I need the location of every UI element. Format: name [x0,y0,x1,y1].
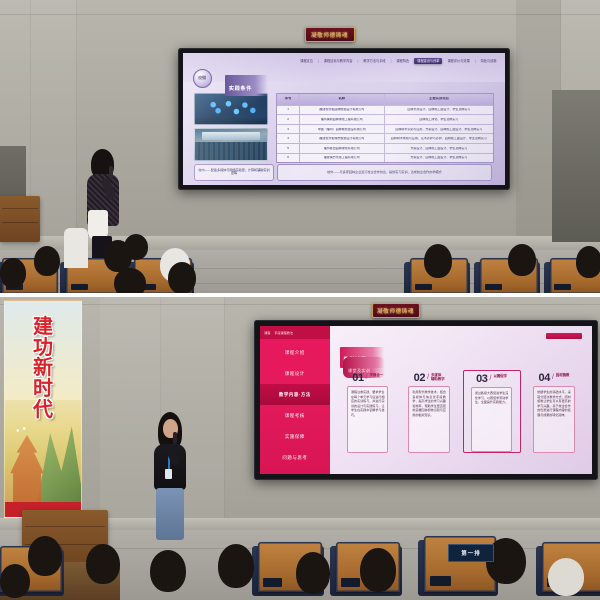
card-slash-icon: / [552,374,554,381]
table-row: 5 福州春田园林绿化有限公司 方案设计、园林施工图设计、学生顶岗实习 [277,144,493,154]
sidebar-item-course-design[interactable]: 课程设计 [260,363,330,384]
table-header-row: 序号 名称 主要实训项目 [277,94,493,106]
screen-content-top: 课程定位 | 课程目标与教学内容 | 教学方法与手段 | 课程特色 课程建设与改… [183,53,505,185]
audience-head [0,258,26,288]
nav-separator: | [318,60,319,63]
sidebar-header-0: 课程 [264,330,270,335]
nav-item-5[interactable]: 课程评价与效果 [445,59,471,64]
slide-corner-badge [546,333,583,340]
sidebar-header: 课程 手段课程教法 [260,326,330,339]
slide-sidebar: 课程 手段课程教法 课程介绍 课程设计 教学内容·方法 [260,326,330,474]
card-body-text: 依据学生的基础水平，采取分层次教学方式，因材施教让学生可以有更高的学习兴趣，基于… [537,390,571,417]
podium-line [2,222,39,223]
audience-head [360,548,396,592]
cell-name: 中国（福州）园林规划建设有限公司 [300,125,385,134]
card-label-line: 学做合一 [370,374,384,378]
presenter-jeans [156,488,184,540]
first-row-plaque-text: 第一排 [461,549,481,557]
sidebar-item-label: 课程介绍 [285,350,305,356]
cell-no: 6 [277,154,299,163]
nav-item-0[interactable]: 课程定位 [298,59,315,64]
cell-name: 福建省景和城市规划设计有限公司 [300,134,385,143]
table-header-cell: 序号 [277,94,299,105]
th-name: 名称 [338,97,345,100]
audience-head [296,552,330,594]
audience-head [424,244,452,278]
projection-screen-bottom: 课程 手段课程教法 课程介绍 课程设计 教学内容·方法 [254,320,598,480]
sidebar-menu: 课程介绍 课程设计 教学内容·方法 课程考核 [260,342,330,468]
cell-no: 2 [277,115,299,124]
podium-line [2,208,39,209]
slide-title-block: 实践条件 [225,75,268,96]
presenter-bottom-body [148,414,194,540]
projection-screen-top: 课程定位 | 课程目标与教学内容 | 教学方法与手段 | 课程特色 课程建设与改… [178,48,510,190]
card-number: 03 [476,374,487,385]
cell-projects: 园林树木繁殖与应用、花木养护与养护、园林施工图设计、学生顶岗实习 [385,134,493,143]
presenter-badge-icon [165,469,172,479]
audience-head [218,544,254,588]
sidebar-item-support[interactable]: 实施保障 [260,426,330,447]
screen-content-bottom: 课程 手段课程教法 课程介绍 课程设计 教学内容·方法 [260,326,592,474]
sidebar-header-1: 手段课程教法 [274,330,293,335]
slide-photo-column [194,93,268,162]
audience-head [28,536,62,576]
rollup-crane-icon [13,420,30,442]
table-header-cell: 名称 [300,94,385,105]
photo-divider [0,293,600,297]
cell-projects: 园林景观设计、园林施工图设计、学生顶岗实习 [385,106,493,115]
cell-name: 福建闽方景观工程有限公司 [300,154,385,163]
audience-head [34,246,60,276]
wall-seam [0,14,600,15]
method-card-04: 04 / 因材施教 依据学生的基础水平，采取分层次教学方式，因材施教让学生可以有… [526,370,582,453]
sidebar-item-label: 实施保障 [285,434,305,440]
microphone-icon [109,166,113,179]
th-no: 序号 [285,97,292,100]
slide-practice-conditions: 课程定位 | 课程目标与教学内容 | 教学方法与手段 | 课程特色 课程建设与改… [183,53,505,185]
school-emblem-label: 校徽 [198,75,206,81]
method-card-01: 01 / 学做合一 课程注重实践，要求学生在每个单元学习后进行相应的实训练习，并… [340,370,396,453]
rollup-banner: 建 功 新 时 代 [4,300,82,518]
sidebar-item-label: 课程设计 [285,371,305,377]
rollup-pagoda [10,431,45,504]
card-number: 04 [539,373,550,384]
teaching-method-cards: 01 / 学做合一 课程注重实践，要求学生在每个单元学习后进行相应的实训练习，并… [340,370,582,453]
cell-no: 3 [277,125,299,134]
microphone-icon [173,432,177,444]
rollup-banner-text: 建 功 新 时 代 [33,318,53,420]
table-row: 3 中国（福州）园林规划建设有限公司 园林树木识别与应用、方案设计、园林施工图设… [277,125,493,135]
sidebar-item-assessment[interactable]: 课程考核 [260,405,330,426]
card-label-line: 因材施教 [556,374,570,378]
audience-head [576,246,600,278]
card-slash-icon: / [427,374,429,381]
card-number: 01 [352,373,363,384]
sidebar-item-course-intro[interactable]: 课程介绍 [260,342,330,363]
audience-head [124,234,148,260]
wall-dark-panel-right [552,90,600,242]
slide-title: 实践条件 [229,86,252,92]
cell-no: 1 [277,106,299,115]
practice-partners-table: 序号 名称 主要实训项目 1 福建省景和园林规划设计有限公司 园林景观设计、园林… [276,93,494,164]
card-body-text: 利用现代教学技术，结合多媒体与信息化手段教学，提高学生的学习兴趣和效率，帮助学生… [412,390,446,417]
slide-photo-base [194,128,268,161]
audience-head [86,544,120,584]
card-body: 课程注重实践，要求学生在每个单元学习后进行相应的实训练习，并进行实训的设计与实践… [347,386,389,453]
nav-item-2[interactable]: 教学方法与手段 [361,59,387,64]
table-row: 6 福建闽方景观工程有限公司 方案设计、园林施工图设计、学生顶岗实习 [277,154,493,163]
slide-photo-lab [194,93,268,126]
first-row-plaque: 第一排 [448,544,494,562]
cell-name: 福建省景和园林规划设计有限公司 [300,106,385,115]
note-on-campus: 校内——配备多媒体与网络实验室、计算机辅助实训室等 [194,164,273,181]
table-header-cell: 主要实训项目 [385,94,493,105]
card-body: 依据学生的基础水平，采取分层次教学方式，因材施教让学生可以有更高的学习兴趣，基于… [533,386,575,453]
nav-separator: | [391,60,392,63]
cell-name: 福州春田园林绿化有限公司 [300,144,385,153]
card-label: 学做合一 [370,374,384,378]
card-body-text: 通过各级大赛促进学生深化学习，以赛促学带动学生，全面提升实践能力。 [475,391,509,405]
card-label: 因材施教 [556,374,570,378]
table-row: 2 福州闽新园林绿化工程有限公司 园林施工绿化、学生顶岗实习 [277,115,493,125]
nav-item-6[interactable]: 特色与创新 [479,59,499,64]
table-row: 4 福建省景和城市规划设计有限公司 园林树木繁殖与应用、花木养护与养护、园林施工… [277,134,493,144]
rollup-char-4: 代 [33,401,53,421]
hall-banner-top: 凝敬师德铸魂 [305,27,355,42]
rollup-char-2: 新 [33,359,53,379]
nav-separator: | [475,60,476,63]
rollup-mountains [37,418,82,504]
card-head: 04 / 因材施教 [539,373,570,384]
card-head: 02 / 多媒体 辅助教学 [414,373,445,384]
card-label-line: 辅助教学 [431,378,445,382]
cell-projects: 园林施工绿化、学生顶岗实习 [385,115,493,124]
school-emblem-icon: 校徽 [193,69,212,88]
method-card-03-highlighted: 03 / 以赛促学 通过各级大赛促进学生深化学习，以赛促学带动学生，全面提升实践… [463,370,521,453]
audience-head [114,268,146,295]
card-number: 02 [414,373,425,384]
nav-item-1[interactable]: 课程目标与教学内容 [322,59,355,64]
nav-item-4-active[interactable]: 课程建设与改革 [414,58,442,64]
rollup-char-3: 时 [33,380,53,400]
hall-banner-bottom: 凝敬师德铸魂 [372,303,420,318]
cell-projects: 方案设计、园林施工图设计、学生顶岗实习 [385,154,493,163]
nav-separator: | [357,60,358,63]
photo-top-lecture-hall: 凝敬师德铸魂 课程定位 | 课程目标与教学内容 | 教学方法与手段 | 课程特色… [0,0,600,295]
sidebar-item-label: 课程考核 [285,413,305,419]
audience-head [0,564,30,598]
audience-head [168,262,196,294]
slide-notes: 校内——配备多媒体与网络实验室、计算机辅助实训室等 校外——与多家园林企业签订校… [194,164,492,181]
card-body: 通过各级大赛促进学生深化学习，以赛促学带动学生，全面提升实践能力。 [471,387,513,452]
sidebar-item-reflection[interactable]: 问题与思考 [260,447,330,468]
th-projects: 主要实训项目 [429,97,449,100]
cell-projects: 方案设计、园林施工图设计、学生顶岗实习 [385,144,493,153]
cell-name: 福州闽新园林绿化工程有限公司 [300,115,385,124]
cell-projects: 园林树木识别与应用、方案设计、园林施工图设计、学生顶岗实习 [385,125,493,134]
sidebar-item-teaching-content-active[interactable]: 教学内容·方法 [260,384,330,405]
card-slash-icon: / [490,375,492,382]
card-label-line: 以赛促学 [493,375,507,379]
cell-no: 5 [277,144,299,153]
card-body-text: 课程注重实践，要求学生在每个单元学习后进行相应的实训练习，并进行实训的设计与实践… [351,390,385,417]
photo-bottom-lecture-hall: 建 功 新 时 代 凝敬师德铸魂 课程 手段课程教法 [0,296,600,600]
audience-head [150,550,186,592]
card-label: 多媒体 辅助教学 [431,374,445,382]
card-body: 利用现代教学技术，结合多媒体与信息化手段教学，提高学生的学习兴趣和效率，帮助学生… [408,386,450,453]
screenshot-root: 凝敬师德铸魂 课程定位 | 课程目标与教学内容 | 教学方法与手段 | 课程特色… [0,0,600,600]
audience-head [508,244,536,276]
card-slash-icon: / [366,374,368,381]
slide-nav: 课程定位 | 课程目标与教学内容 | 教学方法与手段 | 课程特色 课程建设与改… [298,58,498,64]
rollup-char-0: 建 [33,318,53,338]
audience-standing-person [64,228,88,268]
table-row: 1 福建省景和园林规划设计有限公司 园林景观设计、园林施工图设计、学生顶岗实习 [277,106,493,116]
method-card-02: 02 / 多媒体 辅助教学 利用现代教学技术，结合多媒体与信息化手段教学，提高学… [401,370,457,453]
rollup-char-1: 功 [33,339,53,359]
audience-head [548,558,584,596]
sidebar-item-label: 问题与思考 [282,455,307,461]
card-head: 03 / 以赛促学 [476,374,507,385]
podium-line [25,526,104,527]
note-off-campus: 校外——与多家园林企业签订校企合作协议、提供实习实训、达成校企合作办学模式 [277,164,492,181]
slide-teaching-process: 课程 手段课程教法 课程介绍 课程设计 教学内容·方法 [260,326,592,474]
card-head: 01 / 学做合一 [352,373,383,384]
podium-top [0,196,40,242]
nav-item-3[interactable]: 课程特色 [394,59,411,64]
hall-banner-text: 凝敬师德铸魂 [311,30,348,39]
hall-banner-text: 凝敬师德铸魂 [377,306,414,315]
slide-title-bar: 实践条件 [225,75,268,96]
wall-seam [0,304,600,305]
card-label: 以赛促学 [493,375,507,379]
sidebar-item-label: 教学内容·方法 [279,392,311,398]
cell-no: 4 [277,134,299,143]
